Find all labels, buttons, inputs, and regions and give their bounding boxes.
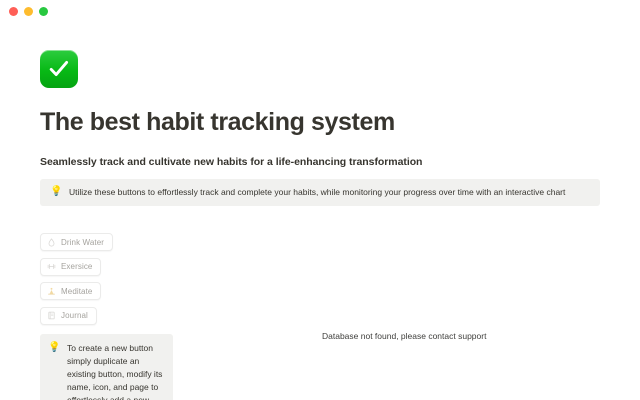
- window-titlebar: [0, 0, 640, 22]
- tip-callout: 💡 To create a new button simply duplicat…: [40, 334, 173, 400]
- water-drop-icon: [47, 238, 56, 247]
- notebook-icon: [47, 311, 56, 320]
- habit-button-drink-water[interactable]: Drink Water: [40, 233, 113, 251]
- person-meditating-icon: [47, 287, 56, 296]
- white-heavy-check-mark-icon[interactable]: [40, 50, 78, 88]
- close-window-button[interactable]: [9, 7, 18, 16]
- tip-callout-text: To create a new button simply duplicate …: [67, 342, 164, 400]
- habit-button-list: Drink Water Exersice Meditate: [40, 233, 600, 325]
- info-callout-text: Utilize these buttons to effortlessly tr…: [69, 187, 565, 198]
- minimize-window-button[interactable]: [24, 7, 33, 16]
- light-bulb-icon: 💡: [50, 187, 61, 197]
- page-subtitle: Seamlessly track and cultivate new habit…: [40, 156, 600, 168]
- barbell-icon: [47, 262, 56, 271]
- habit-button-exersice[interactable]: Exersice: [40, 258, 101, 276]
- info-callout: 💡 Utilize these buttons to effortlessly …: [40, 179, 600, 206]
- habit-button-journal[interactable]: Journal: [40, 307, 97, 325]
- habit-button-meditate[interactable]: Meditate: [40, 282, 101, 300]
- database-error-message: Database not found, please contact suppo…: [322, 331, 486, 341]
- habit-button-label: Exersice: [61, 262, 92, 271]
- light-bulb-icon: 💡: [48, 343, 59, 353]
- tip-callout-body: To create a new button simply duplicate …: [67, 343, 162, 400]
- page-title: The best habit tracking system: [40, 108, 600, 137]
- habit-button-label: Drink Water: [61, 238, 104, 247]
- zoom-window-button[interactable]: [39, 7, 48, 16]
- habit-button-label: Meditate: [61, 287, 92, 296]
- habit-button-label: Journal: [61, 311, 88, 320]
- page-content: The best habit tracking system Seamlessl…: [0, 50, 640, 400]
